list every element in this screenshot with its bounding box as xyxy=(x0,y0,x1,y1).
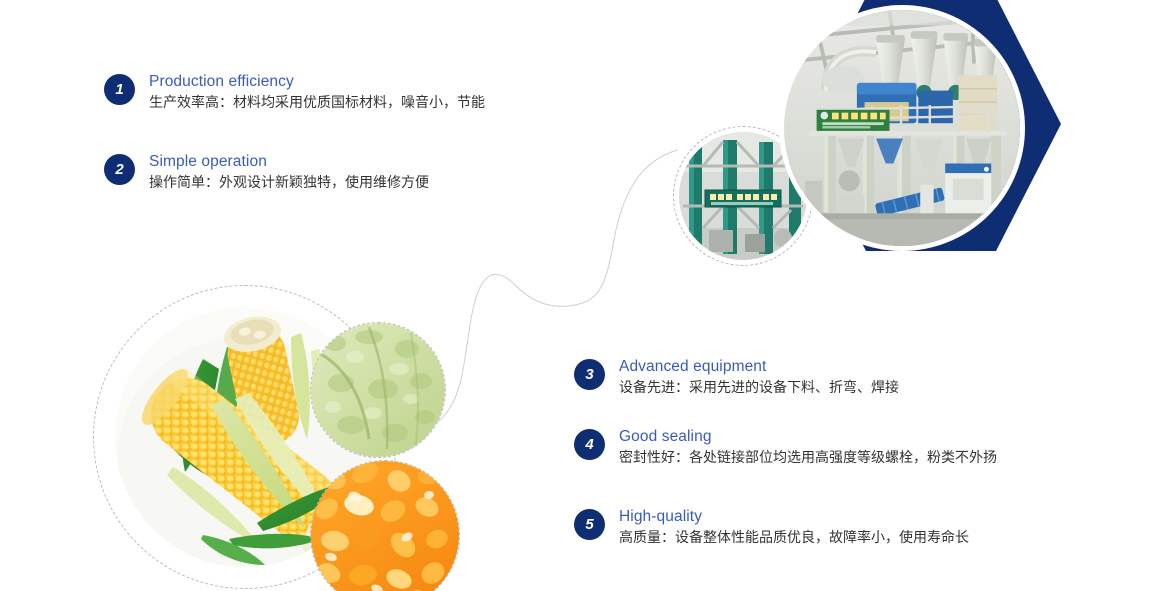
feature-badge-2: 2 xyxy=(104,154,135,185)
milling-plant-image xyxy=(779,5,1025,251)
infographic-page: 1 Production efficiency 生产效率高：材料均采用优质国标材… xyxy=(0,0,1154,591)
feature-title-3: Advanced equipment xyxy=(619,357,899,376)
feature-text-2: Simple operation 操作简单：外观设计新颖独特，使用维修方便 xyxy=(149,152,429,193)
feature-text-1: Production efficiency 生产效率高：材料均采用优质国标材料，… xyxy=(149,72,485,113)
feature-text-3: Advanced equipment 设备先进：采用先进的设备下料、折弯、焊接 xyxy=(619,357,899,398)
feature-desc-2: 操作简单：外观设计新颖独特，使用维修方便 xyxy=(149,172,429,193)
feature-text-5: High-quality 高质量：设备整体性能品质优良，故障率小，使用寿命长 xyxy=(619,507,969,548)
feature-badge-5: 5 xyxy=(574,509,605,540)
feature-badge-1: 1 xyxy=(104,74,135,105)
feature-title-1: Production efficiency xyxy=(149,72,485,91)
feature-desc-5: 高质量：设备整体性能品质优良，故障率小，使用寿命长 xyxy=(619,527,969,548)
feature-item-5: 5 High-quality 高质量：设备整体性能品质优良，故障率小，使用寿命长 xyxy=(574,507,969,548)
feature-badge-3: 3 xyxy=(574,359,605,390)
feature-title-4: Good sealing xyxy=(619,427,997,446)
corn-paste-dashed-ring xyxy=(310,322,446,458)
feature-title-2: Simple operation xyxy=(149,152,429,171)
feature-title-5: High-quality xyxy=(619,507,969,526)
feature-item-2: 2 Simple operation 操作简单：外观设计新颖独特，使用维修方便 xyxy=(104,152,429,193)
feature-item-4: 4 Good sealing 密封性好：各处链接部位均选用高强度等级螺栓，粉类不… xyxy=(574,427,997,468)
plant-photo-group xyxy=(660,0,1154,280)
feature-desc-1: 生产效率高：材料均采用优质国标材料，噪音小，节能 xyxy=(149,92,485,113)
feature-desc-3: 设备先进：采用先进的设备下料、折弯、焊接 xyxy=(619,377,899,398)
feature-item-3: 3 Advanced equipment 设备先进：采用先进的设备下料、折弯、焊… xyxy=(574,357,899,398)
feature-badge-4: 4 xyxy=(574,429,605,460)
corn-grits-dashed-ring xyxy=(310,460,460,591)
feature-desc-4: 密封性好：各处链接部位均选用高强度等级螺栓，粉类不外扬 xyxy=(619,447,997,468)
feature-text-4: Good sealing 密封性好：各处链接部位均选用高强度等级螺栓，粉类不外扬 xyxy=(619,427,997,468)
feature-item-1: 1 Production efficiency 生产效率高：材料均采用优质国标材… xyxy=(104,72,485,113)
